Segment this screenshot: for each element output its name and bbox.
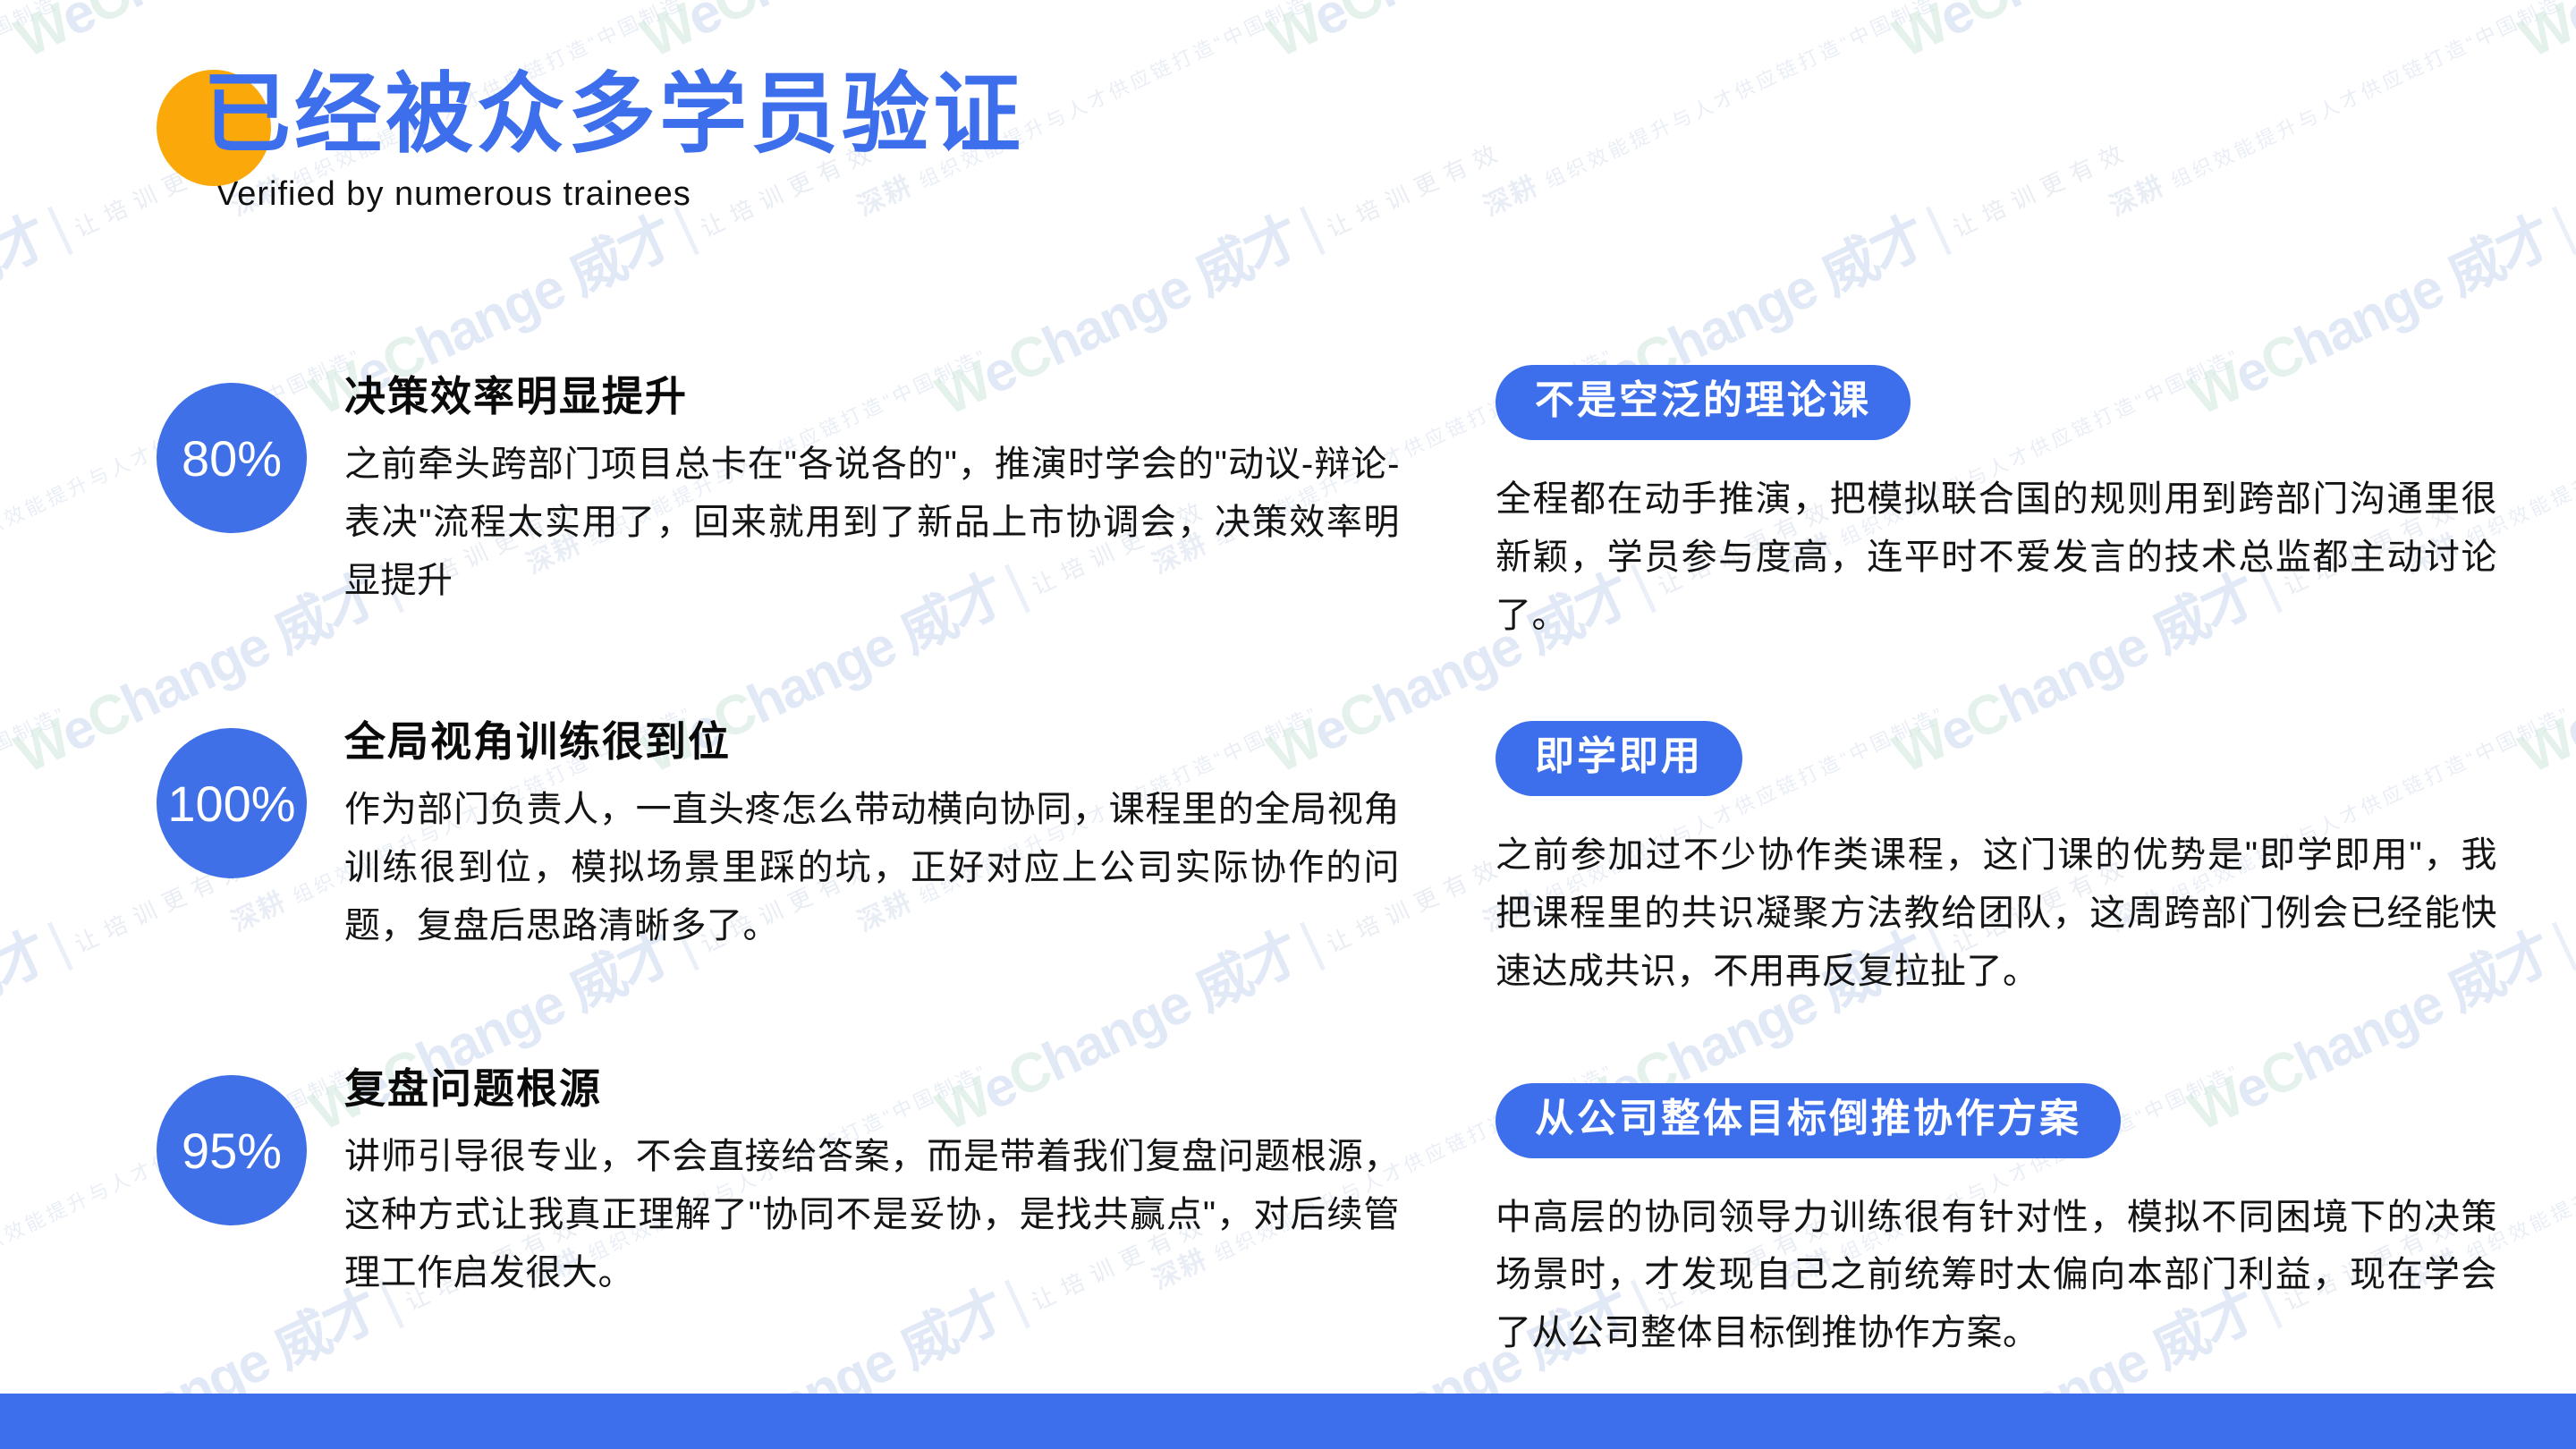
card-text: 中高层的协同领导力训练很有针对性，模拟不同困境下的决策场景时，才发现自己之前统筹… [1496,1189,2497,1362]
stat-circle-badge: 80% [157,383,307,533]
stat-item: 80% 决策效率明显提升 之前牵头跨部门项目总卡在"各说各的"，推演时学会的"动… [157,372,1400,667]
stat-item: 100% 全局视角训练很到位 作为部门负责人，一直头疼怎么带动横向协同，课程里的… [157,717,1400,1013]
page-subtitle: Verified by numerous trainees [216,175,1024,214]
stat-heading: 复盘问题根源 [344,1064,1400,1114]
testimonial-cards-column: 不是空泛的理论课 全程都在动手推演，把模拟联合国的规则用到跨部门沟通里很新颖，学… [1496,365,2497,1362]
stat-body: 全局视角训练很到位 作为部门负责人，一直头疼怎么带动横向协同，课程里的全局视角训… [344,717,1400,955]
stat-circle-badge: 100% [157,728,307,878]
slide-root: 已经被众多学员验证 Verified by numerous trainees … [0,0,2576,1449]
stat-body: 决策效率明显提升 之前牵头跨部门项目总卡在"各说各的"，推演时学会的"动议-辩论… [344,372,1400,610]
testimonial-card: 即学即用 之前参加过不少协作类课程，这门课的优势是"即学即用"，我把课程里的共识… [1496,721,2497,1000]
card-badge: 不是空泛的理论课 [1496,365,1911,440]
card-badge: 即学即用 [1496,721,1742,796]
stat-heading: 全局视角训练很到位 [344,717,1400,767]
footer-bar [0,1394,2576,1449]
testimonial-card: 不是空泛的理论课 全程都在动手推演，把模拟联合国的规则用到跨部门沟通里很新颖，学… [1496,365,2497,644]
page-title: 已经被众多学员验证 [203,70,1024,159]
testimonial-card: 从公司整体目标倒推协作方案 中高层的协同领导力训练很有针对性，模拟不同困境下的决… [1496,1083,2497,1362]
stat-text: 作为部门负责人，一直头疼怎么带动横向协同，课程里的全局视角训练很到位，模拟场景里… [344,781,1400,954]
card-text: 之前参加过不少协作类课程，这门课的优势是"即学即用"，我把课程里的共识凝聚方法教… [1496,826,2497,1000]
stat-heading: 决策效率明显提升 [344,372,1400,421]
card-text: 全程都在动手推演，把模拟联合国的规则用到跨部门沟通里很新颖，学员参与度高，连平时… [1496,470,2497,644]
stat-text: 讲师引导很专业，不会直接给答案，而是带着我们复盘问题根源，这种方式让我真正理解了… [344,1128,1400,1301]
stat-item: 95% 复盘问题根源 讲师引导很专业，不会直接给答案，而是带着我们复盘问题根源，… [157,1064,1400,1360]
stat-circle-badge: 95% [157,1075,307,1225]
testimonial-stats-column: 80% 决策效率明显提升 之前牵头跨部门项目总卡在"各说各的"，推演时学会的"动… [157,365,1400,1360]
card-badge: 从公司整体目标倒推协作方案 [1496,1083,2121,1158]
stat-body: 复盘问题根源 讲师引导很专业，不会直接给答案，而是带着我们复盘问题根源，这种方式… [344,1064,1400,1302]
page-header: 已经被众多学员验证 Verified by numerous trainees [157,70,1024,214]
stat-text: 之前牵头跨部门项目总卡在"各说各的"，推演时学会的"动议-辩论-表决"流程太实用… [344,436,1400,609]
